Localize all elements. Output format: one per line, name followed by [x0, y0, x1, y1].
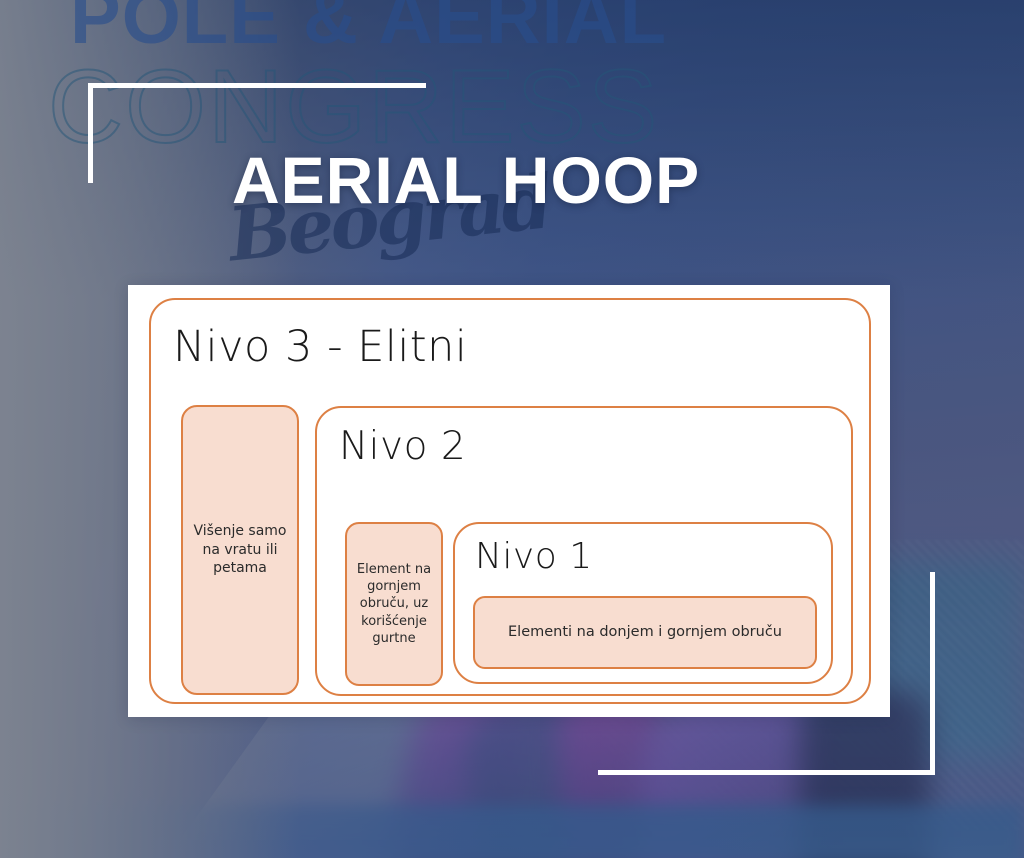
level-1-requirement: Elementi na donjem i gornjem obruču [473, 596, 817, 669]
bracket-bottom-right-vertical [930, 572, 935, 775]
bracket-bottom-right-horizontal [598, 770, 935, 775]
bracket-top-left-horizontal [88, 83, 426, 88]
page-title: AERIAL HOOP [232, 142, 700, 218]
level-2-container: Nivo 2 Element na gornjem obruču, uz kor… [315, 406, 853, 696]
level-2-requirement: Element na gornjem obruču, uz korišćenje… [345, 522, 443, 686]
bracket-top-left-vertical [88, 83, 93, 183]
level-2-title: Nivo 2 [339, 424, 466, 469]
level-1-title: Nivo 1 [475, 536, 593, 577]
level-3-requirement: Višenje samo na vratu ili petama [181, 405, 299, 695]
level-3-title: Nivo 3 - Elitni [173, 322, 467, 372]
level-1-container: Nivo 1 Elementi na donjem i gornjem obru… [453, 522, 833, 684]
levels-diagram-card: Nivo 3 - Elitni Višenje samo na vratu il… [128, 285, 890, 717]
level-3-container: Nivo 3 - Elitni Višenje samo na vratu il… [149, 298, 871, 704]
poster-canvas: POLE & AERIAL CONGRESS Beograd AERIAL HO… [0, 0, 1024, 858]
